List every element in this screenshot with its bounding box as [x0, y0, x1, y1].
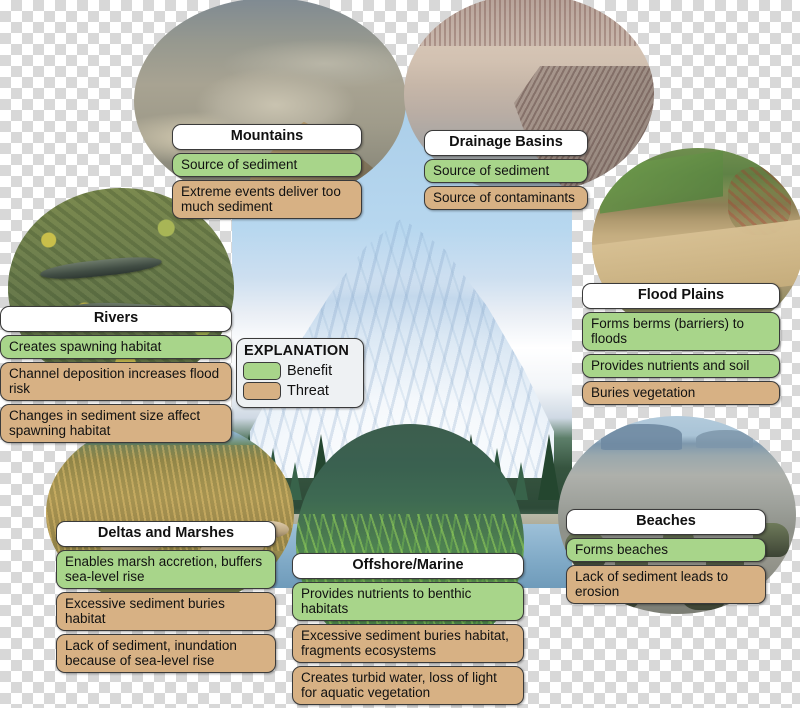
entry-threat: Excessive sediment buries habitat	[56, 592, 276, 631]
group-deltas-and-marshes: Deltas and Marshes Enables marsh accreti…	[56, 521, 276, 676]
entry-benefit: Source of sediment	[172, 153, 362, 177]
entry-threat: Excessive sediment buries habitat, fragm…	[292, 624, 524, 663]
entry-benefit: Provides nutrients and soil	[582, 354, 780, 378]
entry-benefit: Creates spawning habitat	[0, 335, 232, 359]
threat-swatch	[243, 382, 281, 400]
entry-threat: Changes in sediment size affect spawning…	[0, 404, 232, 443]
legend-label-threat: Threat	[287, 383, 329, 399]
legend-row-threat: Threat	[243, 382, 357, 400]
group-rivers: Rivers Creates spawning habitat Channel …	[0, 306, 232, 446]
group-title-rivers: Rivers	[0, 306, 232, 332]
legend-title: EXPLANATION	[244, 343, 357, 359]
entry-threat: Buries vegetation	[582, 381, 780, 405]
group-title-drainage-basins: Drainage Basins	[424, 130, 588, 156]
group-title-mountains: Mountains	[172, 124, 362, 150]
group-drainage-basins: Drainage Basins Source of sediment Sourc…	[424, 130, 588, 213]
group-mountains: Mountains Source of sediment Extreme eve…	[172, 124, 362, 222]
group-title-offshore-marine: Offshore/Marine	[292, 553, 524, 579]
group-offshore-marine: Offshore/Marine Provides nutrients to be…	[292, 553, 524, 708]
explanation-legend: EXPLANATION Benefit Threat	[236, 338, 364, 408]
entry-threat: Lack of sediment, inundation because of …	[56, 634, 276, 673]
entry-benefit: Provides nutrients to benthic habitats	[292, 582, 524, 621]
group-title-beaches: Beaches	[566, 509, 766, 535]
entry-threat: Channel deposition increases flood risk	[0, 362, 232, 401]
group-title-deltas-and-marshes: Deltas and Marshes	[56, 521, 276, 547]
entry-benefit: Enables marsh accretion, buffers sea-lev…	[56, 550, 276, 589]
benefit-swatch	[243, 362, 281, 380]
group-beaches: Beaches Forms beaches Lack of sediment l…	[566, 509, 766, 607]
entry-benefit: Forms berms (barriers) to floods	[582, 312, 780, 351]
group-title-flood-plains: Flood Plains	[582, 283, 780, 309]
entry-threat: Source of contaminants	[424, 186, 588, 210]
legend-label-benefit: Benefit	[287, 363, 332, 379]
legend-row-benefit: Benefit	[243, 362, 357, 380]
entry-benefit: Source of sediment	[424, 159, 588, 183]
group-flood-plains: Flood Plains Forms berms (barriers) to f…	[582, 283, 780, 408]
entry-threat: Extreme events deliver too much sediment	[172, 180, 362, 219]
entry-threat: Creates turbid water, loss of light for …	[292, 666, 524, 705]
entry-threat: Lack of sediment leads to erosion	[566, 565, 766, 604]
entry-benefit: Forms beaches	[566, 538, 766, 562]
